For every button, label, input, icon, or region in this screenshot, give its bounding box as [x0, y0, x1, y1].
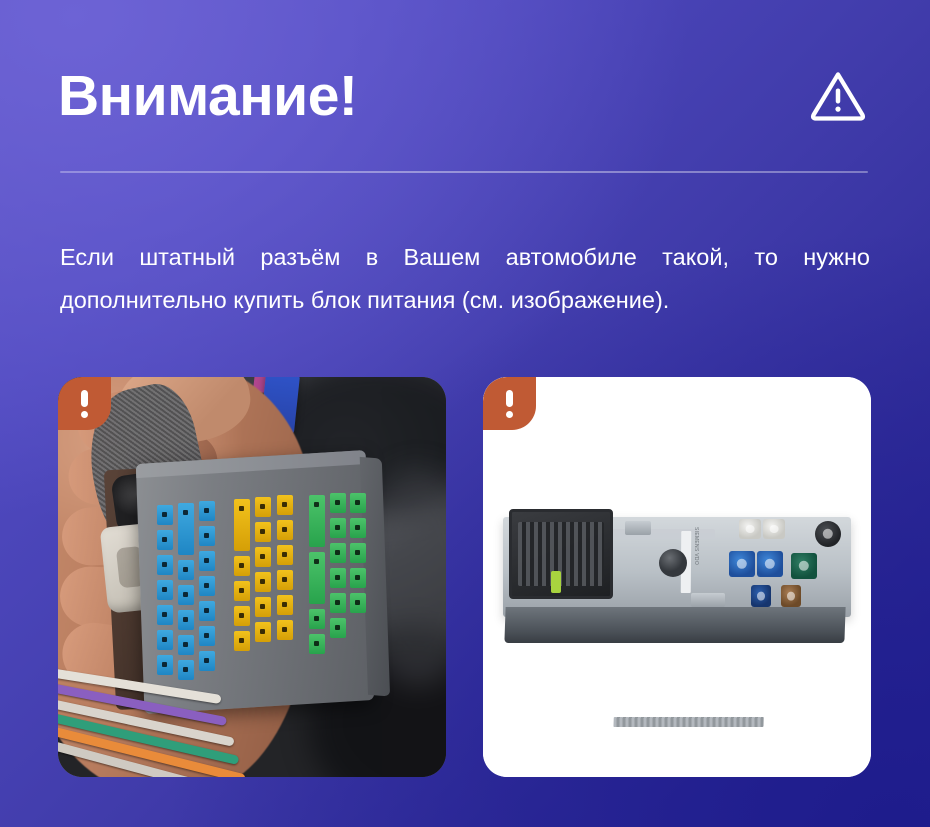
pin-column-yellow-3 — [277, 495, 293, 640]
image-card-row: SIEMENS VDO — [58, 377, 872, 777]
warning-triangle-icon — [808, 66, 868, 126]
module-marking-text: SIEMENS VDO — [693, 527, 699, 565]
fakra-connector-blue-2 — [757, 551, 783, 577]
card-power-supply-photo[interactable]: SIEMENS VDO — [483, 377, 871, 777]
fakra-connector-green — [791, 553, 817, 579]
attention-banner: Внимание! Если штатный разъём в Вашем ав… — [0, 0, 930, 827]
header-divider — [60, 171, 868, 173]
fakra-connector-white-2 — [763, 519, 785, 539]
pin-column-green-2 — [330, 493, 346, 638]
pin-column-blue-3 — [199, 501, 215, 671]
pin-column-blue-1 — [157, 505, 173, 675]
pin-column-green-3 — [350, 493, 366, 613]
fakra-connector-dark — [815, 521, 841, 547]
fakra-connector-brown — [781, 585, 801, 607]
body-text-line-2: дополнительно купить блок питания (см. и… — [60, 279, 870, 322]
fakra-connector-white-1 — [739, 519, 761, 539]
card-connector-photo[interactable] — [58, 377, 446, 777]
pin-column-yellow-1 — [234, 499, 250, 651]
banner-header: Внимание! — [58, 46, 868, 146]
module-knob — [659, 549, 687, 577]
body-text-line-1: Если штатный разъём в Вашем автомобиле т… — [60, 236, 870, 279]
pin-column-blue-2 — [178, 503, 194, 680]
wire-bundle — [58, 657, 278, 777]
fakra-connector-navy — [751, 585, 771, 607]
module-front-face — [504, 607, 845, 643]
exclamation-icon — [506, 390, 513, 418]
body-text: Если штатный разъём в Вашем автомобиле т… — [60, 236, 870, 322]
power-supply-module-photo: SIEMENS VDO — [483, 377, 871, 777]
pin-column-yellow-2 — [255, 497, 271, 642]
page-title: Внимание! — [58, 68, 357, 125]
module-main-connector — [509, 509, 613, 599]
exclamation-icon — [81, 390, 88, 418]
exclamation-badge — [58, 377, 111, 430]
car-wiring-connector-photo — [58, 377, 446, 777]
pin-column-green-1 — [309, 495, 325, 654]
fakra-connector-blue-1 — [729, 551, 755, 577]
exclamation-badge — [483, 377, 536, 430]
